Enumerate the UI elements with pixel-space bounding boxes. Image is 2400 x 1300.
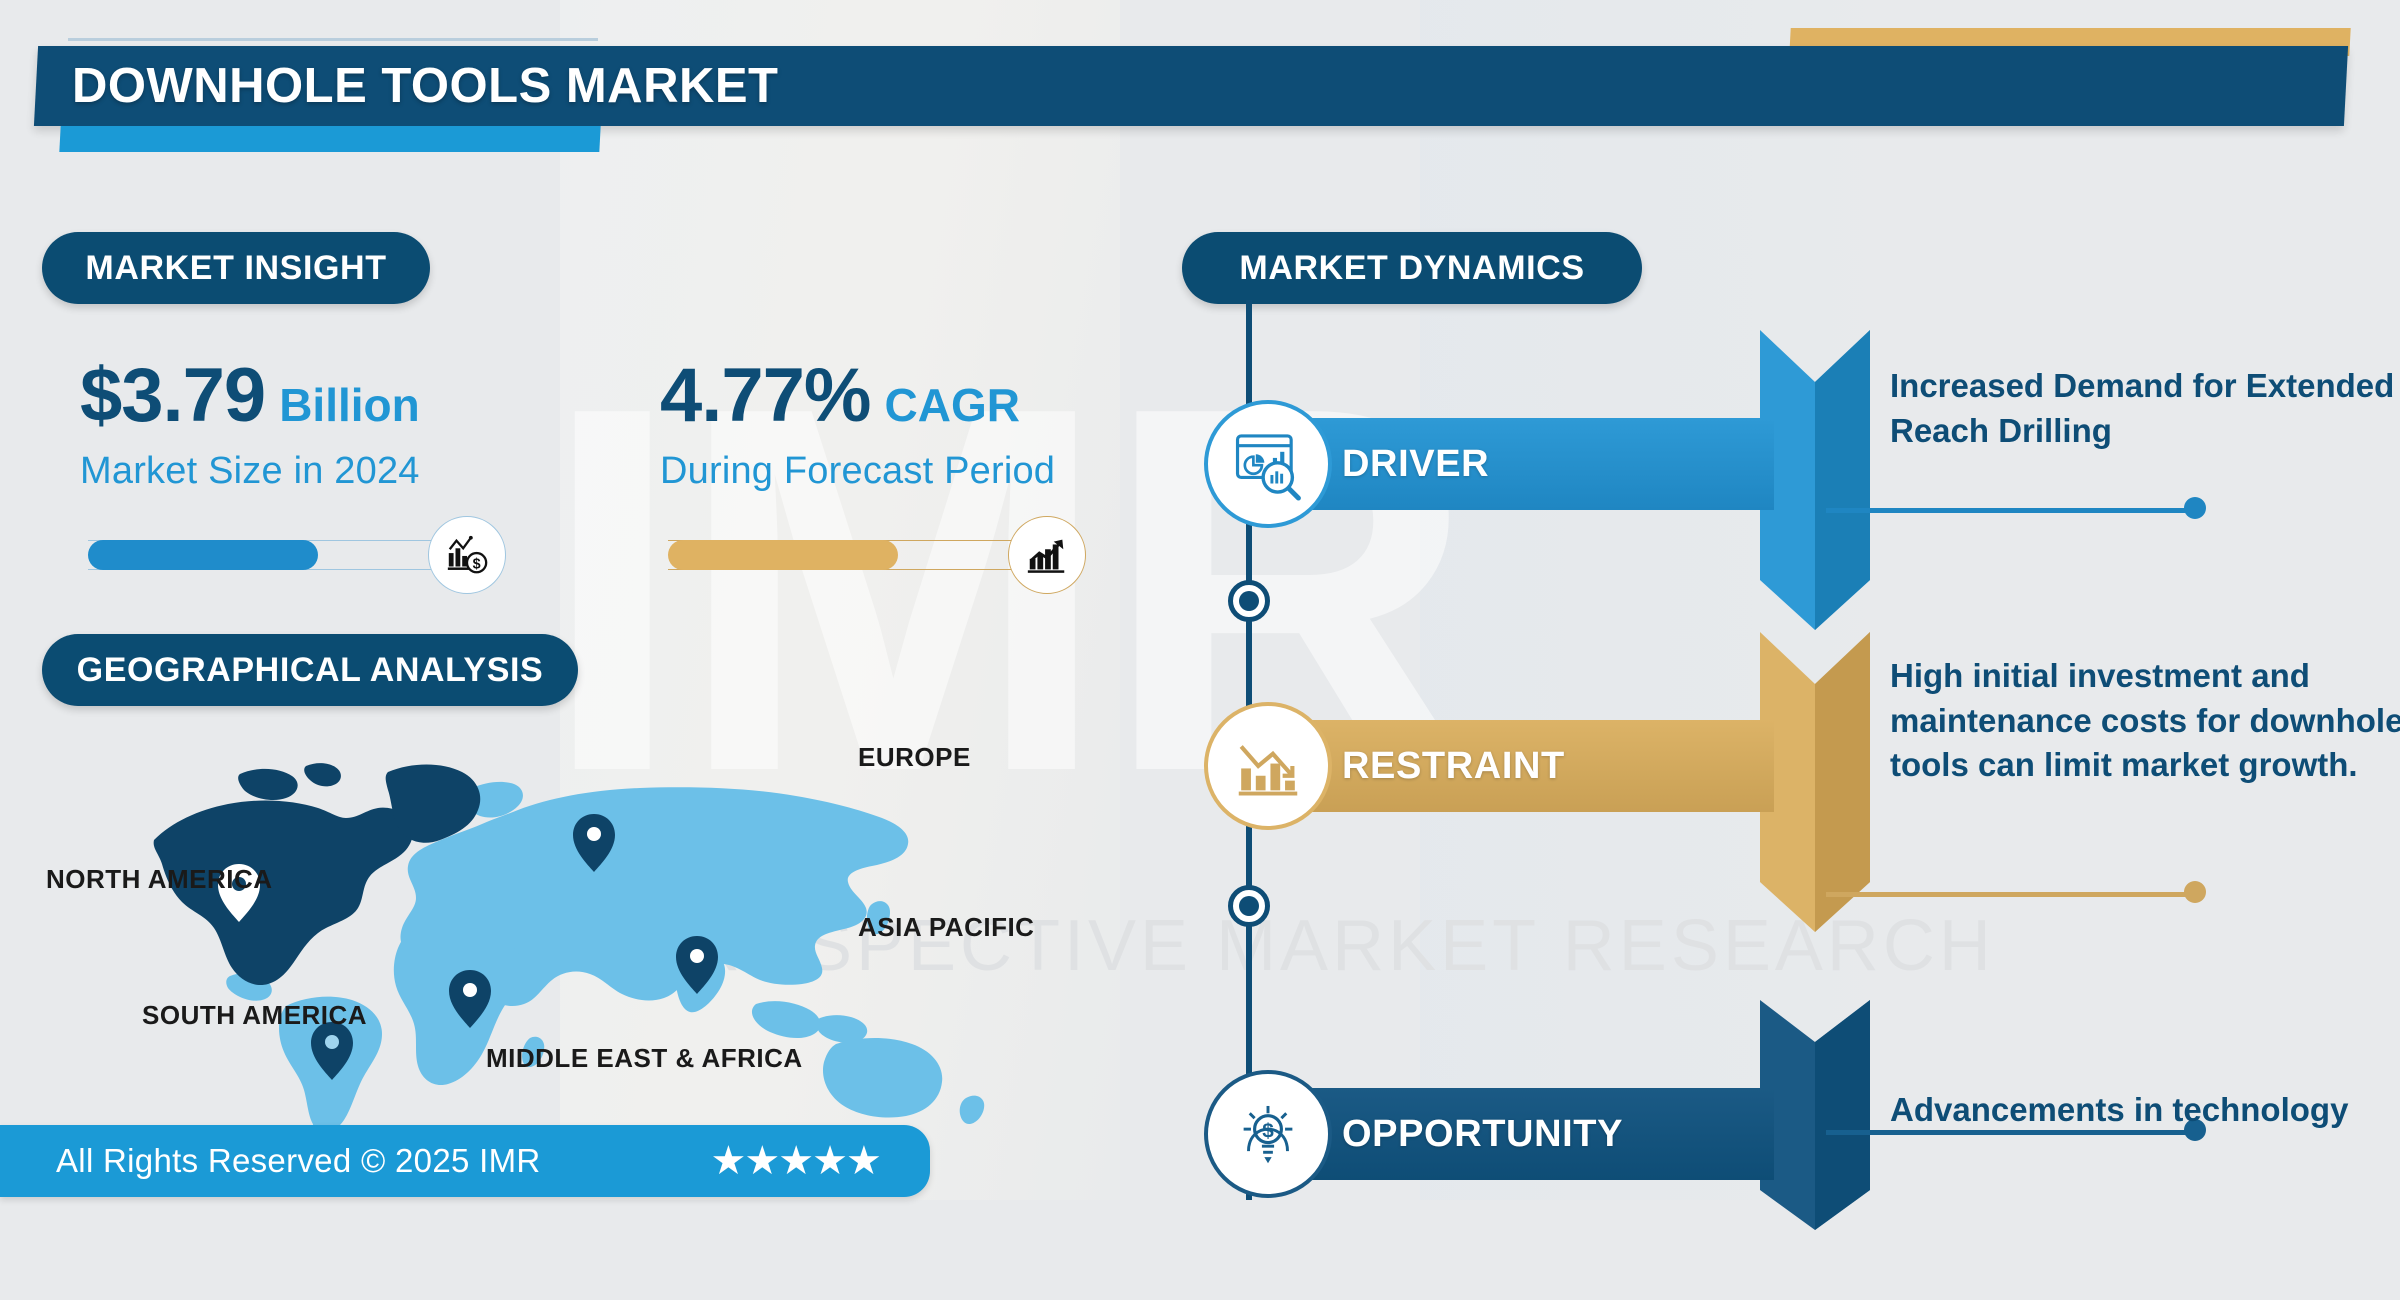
dynamics-text-restraint: High initial investment and maintenance …: [1890, 654, 2400, 788]
star-rating-icon: ★★★★★: [711, 1138, 880, 1184]
section-label-geographical-analysis: GEOGRAPHICAL ANALYSIS: [42, 634, 578, 706]
kpi-market-size-number: $3.79: [80, 353, 265, 438]
map-label-europe: EUROPE: [858, 742, 971, 773]
dynamics-item-opportunity: $ OPPORTUNITY Advancements in technology: [1190, 1000, 2400, 1200]
section-label-market-dynamics: MARKET DYNAMICS: [1182, 232, 1642, 304]
progress-bar-cagr: [668, 528, 1028, 584]
dynamics-connector-restraint: [1826, 892, 2196, 897]
map-label-north-america: NORTH AMERICA: [46, 864, 273, 895]
map-label-south-america: SOUTH AMERICA: [142, 1000, 367, 1031]
kpi-market-size-subtitle: Market Size in 2024: [80, 450, 600, 493]
kpi-cagr-subtitle: During Forecast Period: [660, 450, 1180, 493]
dynamics-connector-dot-driver: [2184, 497, 2206, 519]
dynamics-label-driver: DRIVER: [1342, 436, 1489, 492]
section-label-market-insight: MARKET INSIGHT: [42, 232, 430, 304]
svg-text:$: $: [473, 556, 481, 572]
dynamics-text-opportunity: Advancements in technology: [1890, 1088, 2400, 1133]
bar-chart-dollar-icon: $: [428, 516, 506, 594]
dynamics-label-restraint: RESTRAINT: [1342, 738, 1565, 794]
dynamics-connector-driver: [1826, 508, 2196, 513]
map-label-middle-east-africa: MIDDLE EAST & AFRICA: [486, 1043, 803, 1074]
infographic-canvas: IMR INTROSPECTIVE MARKET RESEARCH DOWNHO…: [0, 0, 2400, 1200]
lightbulb-dollar-icon: $: [1204, 1070, 1332, 1198]
ribbon-shape-driver: [1760, 330, 1870, 630]
dashboard-magnifier-icon: [1204, 400, 1332, 528]
growth-arrow-chart-icon: [1008, 516, 1086, 594]
kpi-market-size-unit: Billion: [279, 379, 420, 431]
dynamics-text-driver: Increased Demand for Extended Reach Dril…: [1890, 364, 2400, 453]
ribbon-shape-restraint: [1760, 632, 1870, 932]
kpi-cagr-value: 4.77%CAGR: [660, 358, 1180, 434]
header-thin-rule: [68, 38, 598, 41]
page-title: DOWNHOLE TOOLS MARKET: [72, 52, 1672, 120]
header-underbar-accent: [59, 126, 600, 152]
svg-text:$: $: [1262, 1120, 1274, 1143]
map-label-asia-pacific: ASIA PACIFIC: [858, 912, 1034, 943]
kpi-cagr: 4.77%CAGR During Forecast Period: [660, 358, 1180, 493]
copyright-text: All Rights Reserved © 2025 IMR: [56, 1142, 541, 1180]
ribbon-shape-opportunity: [1760, 1000, 1870, 1300]
progress-fill: [668, 540, 898, 570]
kpi-market-size-value: $3.79Billion: [80, 358, 600, 434]
progress-bar-market-size: $: [88, 528, 448, 584]
progress-fill: [88, 540, 318, 570]
kpi-cagr-number: 4.77%: [660, 353, 871, 438]
dynamics-item-driver: DRIVER Increased Demand for Extended Rea…: [1190, 330, 2400, 630]
dynamics-label-opportunity: OPPORTUNITY: [1342, 1106, 1623, 1162]
footer-bar: All Rights Reserved © 2025 IMR ★★★★★: [0, 1125, 930, 1197]
dynamics-connector-dot-restraint: [2184, 881, 2206, 903]
kpi-cagr-unit: CAGR: [885, 379, 1020, 431]
kpi-market-size: $3.79Billion Market Size in 2024: [80, 358, 600, 493]
dynamics-item-restraint: RESTRAINT High initial investment and ma…: [1190, 632, 2400, 932]
declining-bar-chart-icon: [1204, 702, 1332, 830]
